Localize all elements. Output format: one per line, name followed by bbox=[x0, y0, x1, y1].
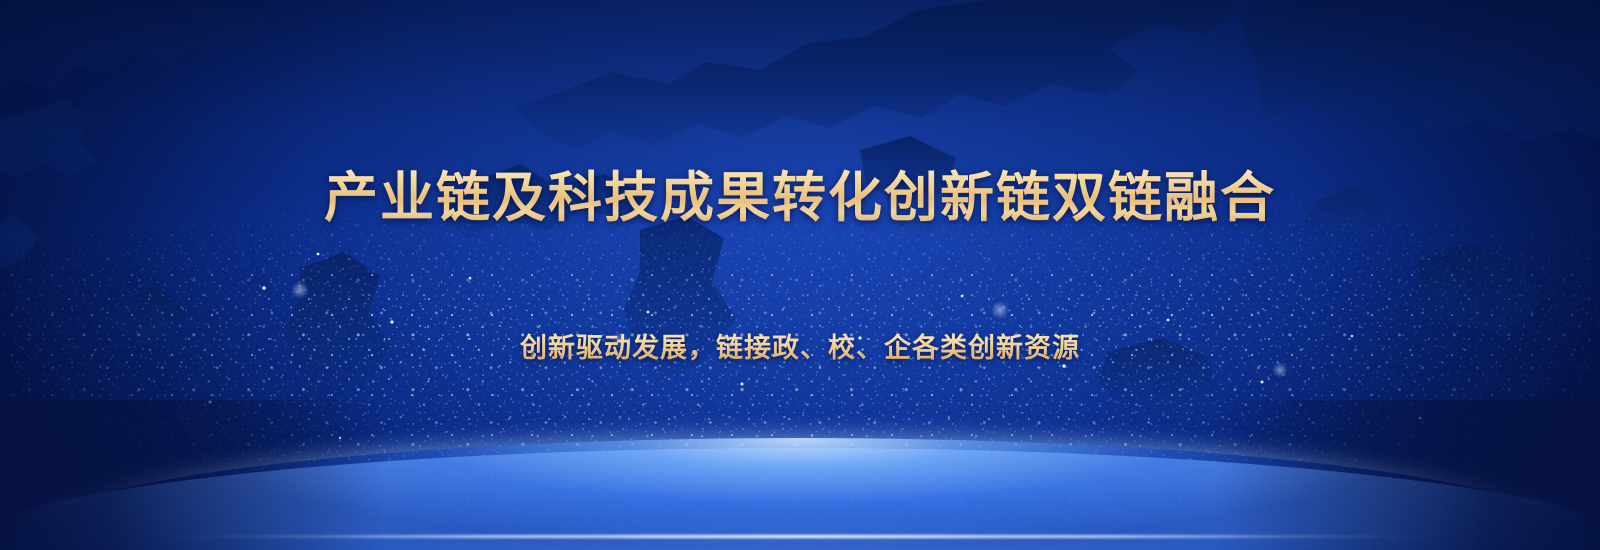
banner-content: 产业链及科技成果转化创新链双链融合 创新驱动发展，链接政、校、企各类创新资源 bbox=[0, 0, 1600, 550]
hero-banner: 产业链及科技成果转化创新链双链融合 创新驱动发展，链接政、校、企各类创新资源 bbox=[0, 0, 1600, 550]
banner-subtitle: 创新驱动发展，链接政、校、企各类创新资源 bbox=[0, 330, 1600, 366]
banner-title: 产业链及科技成果转化创新链双链融合 bbox=[0, 168, 1600, 228]
